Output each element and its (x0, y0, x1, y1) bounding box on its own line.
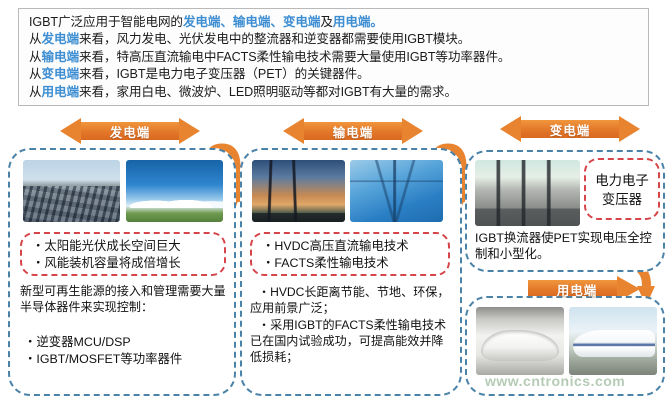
generation-highlight-1: ・太阳能光伏成长空间巨大 (32, 238, 181, 255)
transmission-bullet-1: ・HVDC长距离节能、节地、环保，应用前景广泛； (250, 284, 452, 316)
arrow-generation: 发电端 (60, 118, 200, 144)
arrow-generation-label: 发电端 (110, 122, 151, 141)
summary-seg-1-2: 来看，风力发电、光伏发电中的整流器和逆变器都需要使用IGBT模块。 (79, 32, 470, 46)
summary-seg-2-0: 从 (29, 50, 42, 64)
summary-line-4: 从变电端来看，IGBT是电力电子变压器（PET）的关键器件。 (29, 66, 640, 83)
transmission-bullet-2: ・采用IGBT的FACTS柔性输电技术已在国内试验成功，可提高能效并降低损耗； (250, 317, 452, 366)
substation-caption: IGBT换流器使PET实现电压全控制和小型化。 (475, 230, 661, 263)
arrow-head-left-icon (60, 118, 81, 144)
generation-bullet-1: ・逆变器MCU/DSP (24, 334, 131, 351)
summary-line-1: IGBT广泛应用于智能电网的发电端、输电端、变电端及用电端。 (29, 14, 640, 31)
wind-turbine-photo (126, 160, 223, 222)
high-speed-train-photo (569, 307, 657, 375)
summary-seg-0-0: IGBT广泛应用于智能电网的 (29, 15, 183, 29)
panel-substation: 电力电子 变压器 IGBT换流器使PET实现电压全控制和小型化。 (465, 150, 665, 272)
summary-line-2: 从发电端来看，风力发电、光伏发电中的整流器和逆变器都需要使用IGBT模块。 (29, 31, 640, 48)
power-line-sunset-photo (252, 160, 345, 222)
summary-seg-0-3: 用电端。 (333, 15, 383, 29)
summary-line-3: 从输电端来看，特高压直流输电中FACTS柔性输电技术需要大量使用IGBT等功率器… (29, 49, 640, 66)
electric-car-photo (476, 307, 564, 375)
transmission-highlight-2: ・FACTS柔性输电技术 (262, 255, 389, 272)
arrow-head-left-icon (500, 116, 521, 142)
panel-generation: ・太阳能光伏成长空间巨大 ・风能装机容量将成倍增长 新型可再生能源的接入和管理需… (8, 148, 236, 396)
arrow-substation: 变电端 (500, 116, 640, 142)
summary-seg-0-2: 及 (320, 15, 333, 29)
transmission-tower-photo (350, 160, 443, 222)
summary-seg-4-2: 来看，家用白电、微波炉、LED照明驱动等都对IGBT有大量的需求。 (79, 85, 457, 99)
transmission-highlight-1: ・HVDC高压直流输电技术 (262, 238, 409, 255)
summary-seg-4-0: 从 (29, 85, 42, 99)
panel-transmission: ・HVDC高压直流输电技术 ・FACTS柔性输电技术 ・HVDC长距离节能、节地… (240, 148, 462, 396)
infographic-root: IGBT广泛应用于智能电网的发电端、输电端、变电端及用电端。 从发电端来看，风力… (0, 0, 671, 403)
summary-seg-4-1: 用电端 (42, 85, 79, 99)
pet-label-line-2: 变压器 (586, 190, 658, 209)
generation-bullet-2: ・IGBT/MOSFET等功率器件 (24, 351, 182, 368)
summary-seg-3-2: 来看，IGBT是电力电子变压器（PET）的关键器件。 (79, 67, 370, 81)
summary-seg-0-1: 发电端、输电端、变电端 (183, 15, 320, 29)
arrow-head-right-icon (402, 118, 423, 144)
generation-body-text: 新型可再生能源的接入和管理需要大量半导体器件来实现控制： (20, 283, 226, 315)
pet-label-line-1: 电力电子 (586, 171, 658, 190)
arrow-substation-label: 变电端 (550, 120, 591, 139)
solar-farm-photo (23, 160, 120, 222)
arrow-transmission: 输电端 (283, 118, 423, 144)
summary-seg-3-1: 变电端 (42, 67, 79, 81)
arrow-head-left-icon (283, 118, 304, 144)
generation-highlight-2: ・风能装机容量将成倍增长 (32, 255, 181, 272)
arrow-transmission-label: 输电端 (333, 122, 374, 141)
arrow-head-right-icon (179, 118, 200, 144)
arrow-consumption-label: 用电端 (557, 280, 612, 299)
summary-seg-2-1: 输电端 (42, 50, 79, 64)
watermark: www.cntronics.com (485, 373, 665, 389)
transmission-highlight-box: ・HVDC高压直流输电技术 ・FACTS柔性输电技术 (250, 232, 450, 276)
arrow-head-right-icon (619, 116, 640, 142)
substation-photo (475, 160, 580, 226)
summary-text-box: IGBT广泛应用于智能电网的发电端、输电端、变电端及用电端。 从发电端来看，风力… (18, 8, 649, 106)
summary-seg-3-0: 从 (29, 67, 42, 81)
pet-label-box: 电力电子 变压器 (584, 158, 660, 220)
summary-seg-1-1: 发电端 (42, 32, 79, 46)
summary-seg-1-0: 从 (29, 32, 42, 46)
generation-highlight-box: ・太阳能光伏成长空间巨大 ・风能装机容量将成倍增长 (20, 232, 226, 276)
summary-seg-2-2: 来看，特高压直流输电中FACTS柔性输电技术需要大量使用IGBT等功率器件。 (79, 50, 510, 64)
summary-line-5: 从用电端来看，家用白电、微波炉、LED照明驱动等都对IGBT有大量的需求。 (29, 84, 640, 101)
